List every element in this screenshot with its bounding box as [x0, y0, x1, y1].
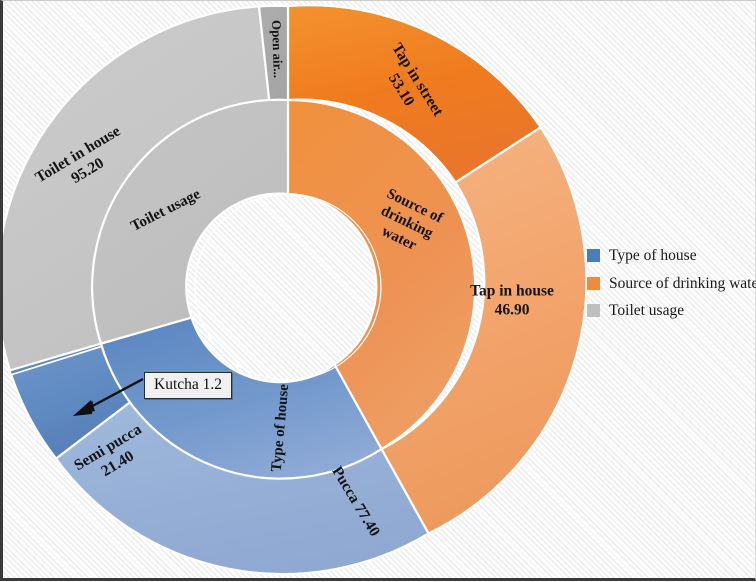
legend-swatch-toilet-usage	[587, 304, 600, 317]
label-tap-in-house-text: Tap in house	[470, 283, 554, 300]
legend-item-toilet-usage[interactable]: Toilet usage	[587, 303, 756, 319]
kutcha-callout-box[interactable]: Kutcha 1.2	[144, 372, 232, 399]
legend-swatch-type-of-house	[587, 249, 600, 262]
chart-legend: Type of house Source of drinking water T…	[587, 248, 756, 319]
legend-item-source-of-drinking-water[interactable]: Source of drinking water	[587, 276, 756, 292]
legend-label-source-of-drinking-water: Source of drinking water	[609, 276, 756, 292]
label-tap-in-house-value: 46.90	[495, 302, 530, 319]
legend-item-type-of-house[interactable]: Type of house	[587, 248, 756, 264]
legend-swatch-source-of-drinking-water	[587, 277, 600, 290]
legend-label-toilet-usage: Toilet usage	[609, 303, 684, 319]
legend-label-type-of-house: Type of house	[609, 248, 697, 264]
chart-frame: Tap in street 53.10 Tap in house 46.90 P…	[0, 0, 756, 581]
label-open-air: Open air...	[269, 20, 286, 79]
kutcha-callout-text: Kutcha 1.2	[154, 376, 222, 393]
label-open-air-text: Open air...	[269, 20, 286, 79]
